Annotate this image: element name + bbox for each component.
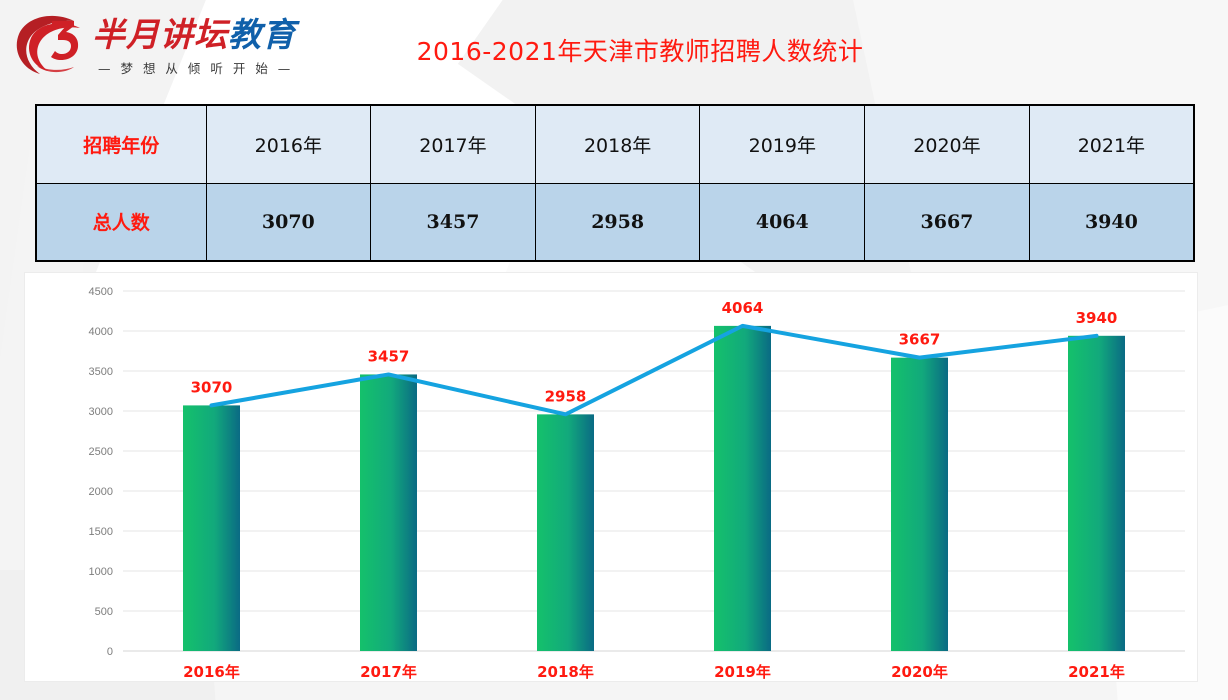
- svg-text:3000: 3000: [89, 406, 113, 418]
- svg-text:3667: 3667: [899, 331, 941, 349]
- logo-swoosh-b-icon: [14, 14, 92, 78]
- table-cell-year-2: 2018年: [535, 105, 700, 183]
- svg-text:0: 0: [107, 646, 113, 658]
- page-title: 2016-2021年天津市教师招聘人数统计: [300, 32, 980, 68]
- svg-text:2500: 2500: [89, 446, 113, 458]
- table-cell-year-4: 2020年: [865, 105, 1030, 183]
- table-cell-total-3: 4064: [700, 183, 865, 261]
- table-cell-total-2: 2958: [535, 183, 700, 261]
- page-header: 半月讲坛教育 — 梦 想 从 倾 听 开 始 — 2016-2021年天津市教师…: [0, 0, 1228, 92]
- table-cell-year-0: 2016年: [206, 105, 371, 183]
- brand-wordmark: 半月讲坛教育: [92, 16, 296, 54]
- table-row-totals: 总人数 3070 3457 2958 4064 3667 3940: [36, 183, 1194, 261]
- svg-text:2021年: 2021年: [1068, 663, 1125, 681]
- table-row-label-total: 总人数: [36, 183, 206, 261]
- chart-y-axis-ticks: 050010001500200025003000350040004500: [89, 286, 113, 658]
- svg-text:2018年: 2018年: [537, 663, 594, 681]
- recruitment-combo-chart: 050010001500200025003000350040004500 307…: [25, 273, 1199, 683]
- brand-name-red: 半月讲坛: [92, 15, 228, 54]
- brand-tagline: — 梦 想 从 倾 听 开 始 —: [98, 58, 298, 77]
- brand-name-blue: 教育: [228, 15, 296, 54]
- table-cell-year-1: 2017年: [371, 105, 536, 183]
- svg-text:2000: 2000: [89, 486, 113, 498]
- table-cell-total-0: 3070: [206, 183, 371, 261]
- svg-text:4000: 4000: [89, 326, 113, 338]
- svg-text:2017年: 2017年: [360, 663, 417, 681]
- svg-text:1000: 1000: [89, 566, 113, 578]
- recruitment-table: 招聘年份 2016年 2017年 2018年 2019年 2020年 2021年…: [35, 104, 1195, 262]
- svg-text:3457: 3457: [368, 347, 410, 365]
- svg-text:2016年: 2016年: [183, 663, 240, 681]
- svg-text:500: 500: [95, 606, 113, 618]
- table-cell-total-4: 3667: [865, 183, 1030, 261]
- chart-bars: [183, 326, 1125, 651]
- table-row-label-years: 招聘年份: [36, 105, 206, 183]
- svg-text:3500: 3500: [89, 366, 113, 378]
- svg-text:3940: 3940: [1076, 309, 1118, 327]
- chart-trend-line: [212, 326, 1097, 414]
- table-row-years: 招聘年份 2016年 2017年 2018年 2019年 2020年 2021年: [36, 105, 1194, 183]
- svg-text:2019年: 2019年: [714, 663, 771, 681]
- svg-text:3070: 3070: [191, 378, 233, 396]
- table-cell-year-3: 2019年: [700, 105, 865, 183]
- svg-text:4500: 4500: [89, 286, 113, 298]
- brand-logo: 半月讲坛教育 — 梦 想 从 倾 听 开 始 —: [14, 10, 294, 82]
- table-cell-total-5: 3940: [1029, 183, 1194, 261]
- table-cell-year-5: 2021年: [1029, 105, 1194, 183]
- svg-text:2020年: 2020年: [891, 663, 948, 681]
- chart-card: 050010001500200025003000350040004500 307…: [24, 272, 1198, 682]
- chart-x-axis-labels: 2016年2017年2018年2019年2020年2021年: [183, 663, 1125, 681]
- table-cell-total-1: 3457: [371, 183, 536, 261]
- svg-text:2958: 2958: [545, 387, 587, 405]
- svg-text:4064: 4064: [722, 299, 764, 317]
- svg-text:1500: 1500: [89, 526, 113, 538]
